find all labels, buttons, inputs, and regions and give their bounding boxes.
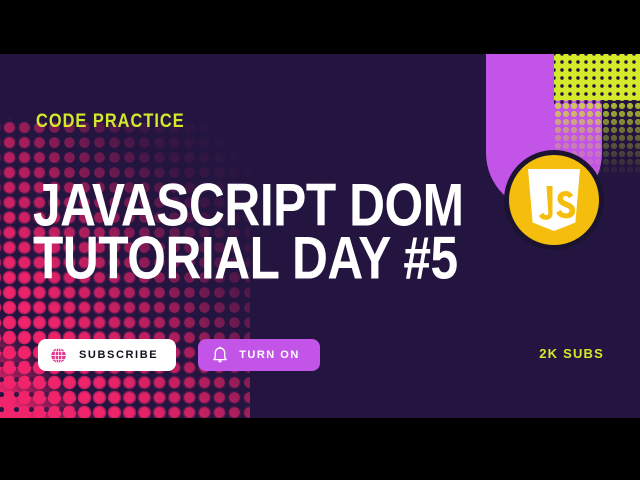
thumbnail-frame: CODE PRACTICE JAVASCRIPT DOM TUTORIAL DA…	[0, 0, 640, 480]
turn-on-button[interactable]: TURN ON	[198, 339, 320, 371]
subscribe-button-label: SUBSCRIBE	[79, 349, 158, 361]
bell-icon	[212, 346, 228, 364]
headline-line-2: TUTORIAL DAY #5	[33, 229, 464, 288]
javascript-shield-icon	[526, 169, 582, 231]
turn-on-button-label: TURN ON	[239, 349, 300, 361]
cta-button-row: SUBSCRIBE TURN ON	[38, 339, 320, 371]
thumbnail-canvas: CODE PRACTICE JAVASCRIPT DOM TUTORIAL DA…	[0, 54, 640, 418]
globe-icon	[50, 347, 67, 364]
eyebrow-label: CODE PRACTICE	[36, 112, 185, 131]
subs-counter: 2K SUBS	[539, 346, 604, 361]
page-title: JAVASCRIPT DOM TUTORIAL DAY #5	[33, 176, 501, 282]
js-logo-badge	[504, 150, 604, 250]
subscribe-button[interactable]: SUBSCRIBE	[38, 339, 176, 371]
